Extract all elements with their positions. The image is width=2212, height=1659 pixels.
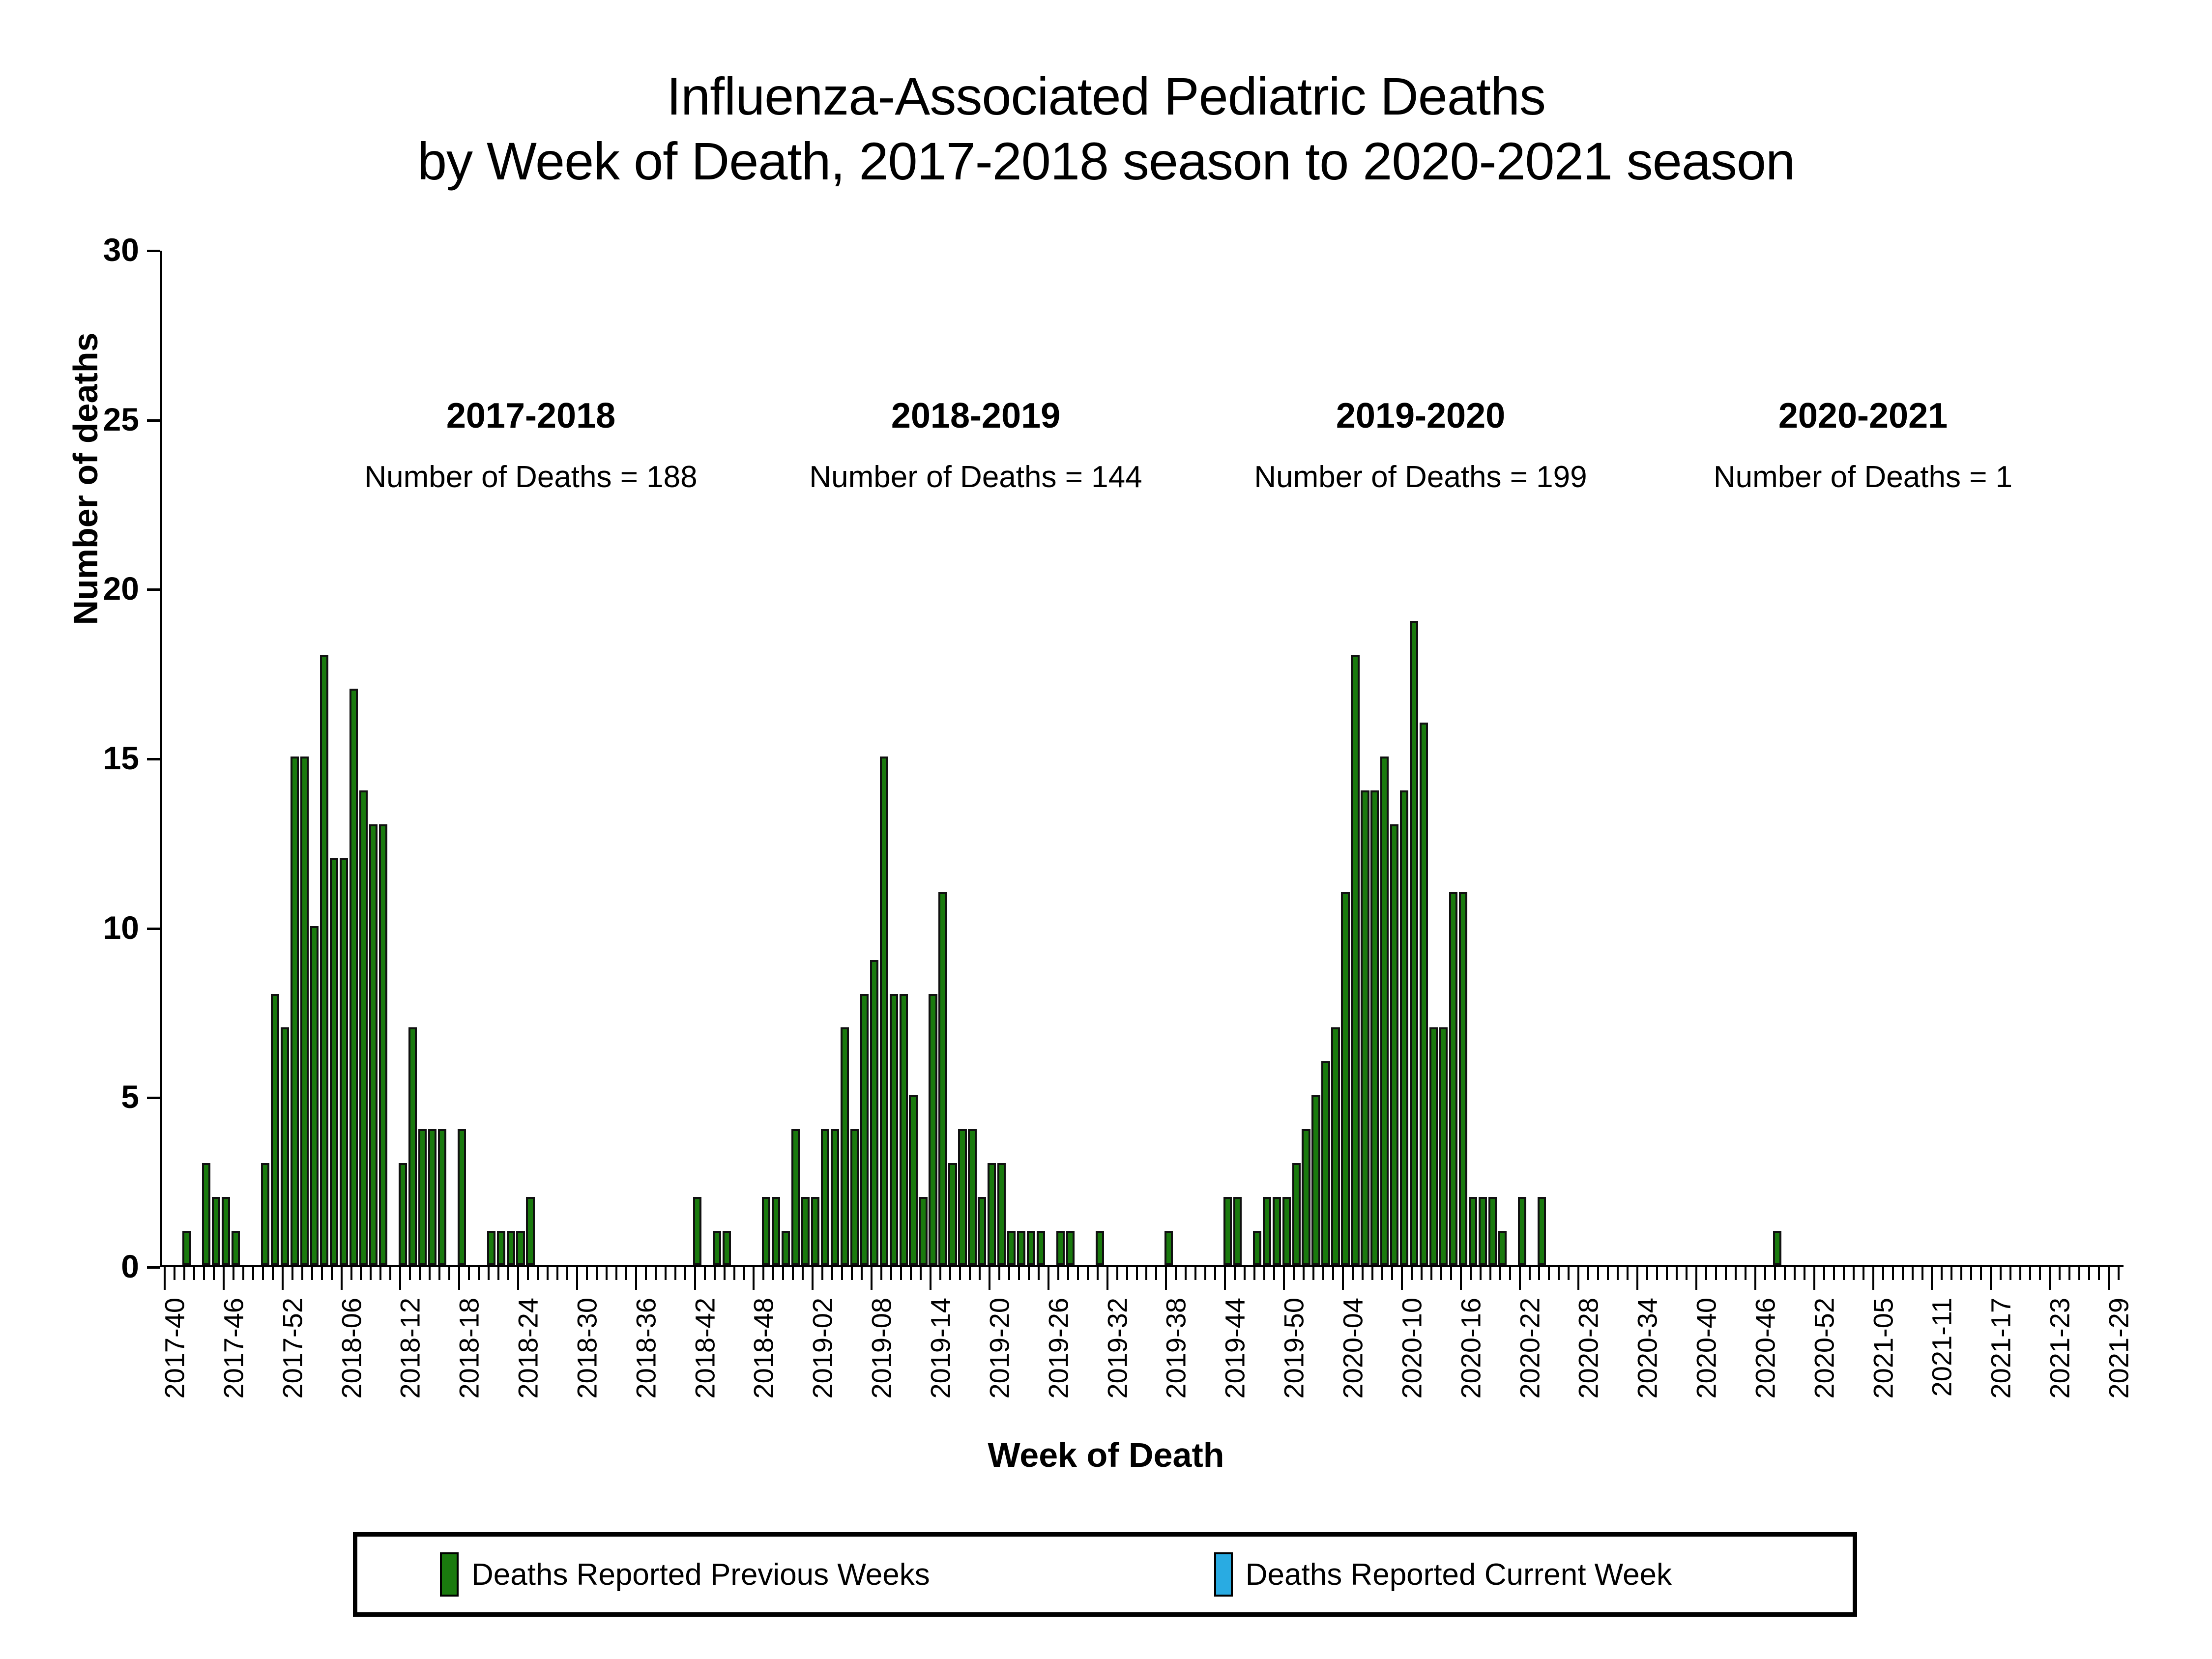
x-axis-tick-minor: [831, 1267, 833, 1280]
x-axis-tick-minor: [1960, 1267, 1962, 1280]
x-axis-tick-minor: [174, 1267, 175, 1280]
x-axis-tick-major: [1990, 1267, 1992, 1290]
bar: [418, 1129, 427, 1265]
x-axis-tick-minor: [1499, 1267, 1501, 1280]
x-axis-tick-label: 2018-24: [512, 1298, 544, 1399]
x-axis-tick-major: [1754, 1267, 1756, 1290]
x-axis-tick-minor: [2118, 1267, 2120, 1280]
x-axis-tick-minor: [1352, 1267, 1354, 1280]
x-axis-tick-minor: [2029, 1267, 2031, 1280]
bar: [1361, 790, 1369, 1265]
bar: [723, 1231, 731, 1265]
x-axis-tick-minor: [920, 1267, 922, 1280]
bar: [1439, 1027, 1448, 1265]
bar: [782, 1231, 790, 1265]
x-axis-tick-major: [635, 1267, 637, 1290]
bar: [948, 1163, 957, 1265]
x-axis-tick-minor: [478, 1267, 480, 1280]
season-name: 2018-2019: [730, 398, 1222, 434]
x-axis-tick-minor: [1794, 1267, 1796, 1280]
bar: [1007, 1231, 1016, 1265]
legend-label-previous-weeks: Deaths Reported Previous Weeks: [471, 1557, 930, 1592]
bar: [958, 1129, 966, 1265]
x-axis-tick-label: 2019-02: [807, 1298, 839, 1399]
x-axis-tick-minor: [1145, 1267, 1147, 1280]
bar: [1017, 1231, 1025, 1265]
x-axis-tick-major: [871, 1267, 873, 1290]
x-axis-tick-minor: [1705, 1267, 1707, 1280]
legend-label-current-week: Deaths Reported Current Week: [1246, 1557, 1672, 1592]
bar: [428, 1129, 437, 1265]
x-axis-tick-label: 2019-32: [1101, 1298, 1133, 1399]
x-axis-tick-minor: [1587, 1267, 1589, 1280]
bar: [1420, 723, 1428, 1265]
y-axis-tick-label: 30: [31, 231, 139, 268]
bar: [1273, 1197, 1281, 1265]
x-axis-tick-minor: [379, 1267, 381, 1280]
x-axis-tick-minor: [880, 1267, 882, 1280]
x-axis-tick-label: 2021-05: [1867, 1298, 1899, 1399]
x-axis-tick-minor: [1676, 1267, 1678, 1280]
y-axis-tick: [147, 419, 160, 422]
x-axis-tick-minor: [2059, 1267, 2061, 1280]
x-axis-tick-minor: [1244, 1267, 1246, 1280]
x-axis-tick-minor: [1421, 1267, 1423, 1280]
x-axis-tick-minor: [1204, 1267, 1206, 1280]
x-axis-tick-minor: [1470, 1267, 1472, 1280]
x-axis-tick-major: [694, 1267, 696, 1290]
y-axis-tick: [147, 1266, 160, 1269]
bar: [1096, 1231, 1104, 1265]
x-axis-tick-minor: [1833, 1267, 1835, 1280]
x-axis-tick-minor: [370, 1267, 372, 1280]
x-axis-tick-minor: [1008, 1267, 1010, 1280]
x-axis-tick-minor: [272, 1267, 274, 1280]
bar: [212, 1197, 220, 1265]
y-axis-tick-label: 0: [31, 1248, 139, 1285]
bar: [1341, 892, 1349, 1265]
x-axis-tick-minor: [1303, 1267, 1305, 1280]
bar: [791, 1129, 800, 1265]
x-axis-tick-minor: [979, 1267, 981, 1280]
page-title: Influenza-Associated Pediatric Deaths by…: [0, 64, 2212, 194]
x-axis-tick-minor: [998, 1267, 1000, 1280]
x-axis-tick-minor: [331, 1267, 333, 1280]
x-axis-tick-minor: [1077, 1267, 1079, 1280]
bar: [1263, 1197, 1271, 1265]
x-axis-tick-minor: [1371, 1267, 1373, 1280]
x-axis-tick-minor: [291, 1267, 293, 1280]
x-axis-tick-major: [812, 1267, 814, 1290]
x-axis-tick-label: 2019-38: [1160, 1298, 1192, 1399]
x-axis-tick-minor: [1617, 1267, 1619, 1280]
bar: [261, 1163, 269, 1265]
x-axis-tick-label: 2020-28: [1572, 1298, 1604, 1399]
x-axis-tick-minor: [645, 1267, 647, 1280]
x-axis-tick-label: 2020-22: [1513, 1298, 1545, 1399]
bar: [900, 994, 908, 1265]
bar: [1351, 655, 1359, 1265]
x-axis-tick-minor: [1745, 1267, 1746, 1280]
x-axis-tick-minor: [772, 1267, 774, 1280]
bar: [1469, 1197, 1477, 1265]
bar: [1331, 1027, 1339, 1265]
bar: [202, 1163, 210, 1265]
x-axis-tick-minor: [1116, 1267, 1118, 1280]
x-axis-tick-label: 2019-44: [1219, 1298, 1251, 1399]
x-axis-tick-minor: [733, 1267, 735, 1280]
bar: [330, 858, 338, 1265]
x-axis-tick-label: 2017-46: [217, 1298, 249, 1399]
x-axis-tick-minor: [1381, 1267, 1383, 1280]
y-axis-title: Number of deaths: [66, 292, 105, 666]
x-axis-tick-minor: [1509, 1267, 1511, 1280]
x-axis-tick-label: 2019-08: [866, 1298, 898, 1399]
x-axis-tick-minor: [949, 1267, 951, 1280]
x-axis-tick-minor: [1921, 1267, 1923, 1280]
x-axis-tick-major: [1224, 1267, 1226, 1290]
x-axis-tick-major: [341, 1267, 343, 1290]
x-axis-tick-label: 2018-42: [689, 1298, 721, 1399]
x-axis-tick-minor: [655, 1267, 657, 1280]
bar: [281, 1027, 289, 1265]
x-axis-tick-label: 2017-52: [276, 1298, 308, 1399]
x-axis-tick-minor: [782, 1267, 784, 1280]
x-axis-title: Week of Death: [0, 1435, 2212, 1475]
bar: [1380, 757, 1389, 1265]
season-death-count: Number of Deaths = 144: [730, 462, 1222, 493]
x-axis-tick-label: 2021-17: [1985, 1298, 2017, 1399]
x-axis-tick-minor: [488, 1267, 490, 1280]
x-axis-tick-minor: [1097, 1267, 1099, 1280]
x-axis-tick-minor: [1970, 1267, 1972, 1280]
x-axis-tick-minor: [596, 1267, 598, 1280]
x-axis-tick-minor: [1529, 1267, 1531, 1280]
x-axis-tick-minor: [1126, 1267, 1128, 1280]
x-axis-tick-minor: [1568, 1267, 1570, 1280]
bar: [1037, 1231, 1045, 1265]
x-axis-tick-minor: [1450, 1267, 1452, 1280]
x-axis-tick-minor: [213, 1267, 215, 1280]
bar: [1773, 1231, 1781, 1265]
bar: [232, 1231, 240, 1265]
bar: [978, 1197, 986, 1265]
x-axis-tick-label: 2021-23: [2044, 1298, 2076, 1399]
bar: [310, 926, 319, 1265]
bar: [369, 824, 378, 1265]
x-axis-tick-minor: [1666, 1267, 1668, 1280]
x-axis-tick-minor: [1548, 1267, 1550, 1280]
y-axis-tick-label: 5: [31, 1078, 139, 1115]
x-axis-tick-minor: [1646, 1267, 1648, 1280]
bar: [850, 1129, 859, 1265]
x-axis-tick-minor: [939, 1267, 941, 1280]
bar: [831, 1129, 839, 1265]
legend-item-current-week[interactable]: Deaths Reported Current Week: [1214, 1552, 1672, 1597]
x-axis-tick-major: [1695, 1267, 1697, 1290]
x-axis-tick-minor: [714, 1267, 716, 1280]
x-axis-tick-label: 2019-14: [925, 1298, 957, 1399]
x-axis-tick-major: [1519, 1267, 1521, 1290]
legend-swatch-previous-weeks: [440, 1552, 459, 1597]
x-axis-tick-label: 2019-26: [1042, 1298, 1074, 1399]
x-axis-tick-minor: [674, 1267, 676, 1280]
x-axis-tick-minor: [1322, 1267, 1324, 1280]
x-axis-tick-minor: [1136, 1267, 1138, 1280]
chart-legend: Deaths Reported Previous Weeks Deaths Re…: [353, 1532, 1857, 1617]
x-axis-tick-minor: [1175, 1267, 1177, 1280]
x-axis-tick-minor: [1214, 1267, 1216, 1280]
x-axis-tick-minor: [1038, 1267, 1040, 1280]
x-axis-tick-minor: [2078, 1267, 2080, 1280]
bar: [1459, 892, 1467, 1265]
x-axis-tick-minor: [1597, 1267, 1599, 1280]
x-axis-tick-minor: [1263, 1267, 1265, 1280]
x-axis-tick-minor: [762, 1267, 764, 1280]
x-axis-tick-major: [399, 1267, 401, 1290]
x-axis-tick-minor: [507, 1267, 509, 1280]
x-axis-tick-minor: [1774, 1267, 1776, 1280]
bar: [1292, 1163, 1301, 1265]
x-axis-tick-minor: [1489, 1267, 1491, 1280]
x-axis-tick-minor: [2000, 1267, 2002, 1280]
season-name: 2020-2021: [1617, 398, 2109, 434]
x-axis-tick-minor: [1332, 1267, 1334, 1280]
x-axis-tick-minor: [203, 1267, 205, 1280]
x-axis-tick-major: [1342, 1267, 1344, 1290]
bar: [1400, 790, 1408, 1265]
x-axis-tick-minor: [1843, 1267, 1845, 1280]
x-axis-tick-minor: [792, 1267, 794, 1280]
legend-swatch-current-week: [1214, 1552, 1233, 1597]
x-axis-tick-minor: [438, 1267, 440, 1280]
bar: [1410, 621, 1418, 1265]
x-axis-tick-major: [2049, 1267, 2051, 1290]
x-axis-tick-major: [2108, 1267, 2110, 1290]
x-axis-tick-minor: [233, 1267, 234, 1280]
x-axis-tick-minor: [1185, 1267, 1187, 1280]
bar: [379, 824, 387, 1265]
bar: [1066, 1231, 1075, 1265]
bar: [1027, 1231, 1035, 1265]
x-axis-tick-minor: [615, 1267, 617, 1280]
x-axis-tick-major: [1636, 1267, 1638, 1290]
x-axis-tick-label: 2020-04: [1337, 1298, 1368, 1399]
title-line-2: by Week of Death, 2017-2018 season to 20…: [0, 129, 2212, 194]
x-axis-tick-label: 2018-36: [630, 1298, 662, 1399]
bar: [909, 1095, 917, 1265]
bar: [772, 1197, 780, 1265]
x-axis-tick-label: 2021-29: [2103, 1298, 2135, 1399]
x-axis-tick-minor: [350, 1267, 352, 1280]
season-death-count: Number of Deaths = 199: [1175, 462, 1666, 493]
x-axis-tick-minor: [242, 1267, 244, 1280]
x-axis-tick-label: 2018-48: [748, 1298, 780, 1399]
x-axis-tick-minor: [321, 1267, 323, 1280]
x-axis-tick-minor: [1194, 1267, 1196, 1280]
bar: [271, 994, 279, 1265]
x-axis-tick-major: [282, 1267, 284, 1290]
x-axis-tick-major: [1106, 1267, 1108, 1290]
bar: [320, 655, 328, 1265]
bar: [1498, 1231, 1507, 1265]
x-axis-tick-minor: [821, 1267, 823, 1280]
x-axis-tick-major: [989, 1267, 990, 1290]
x-axis-tick-minor: [1057, 1267, 1059, 1280]
x-axis-tick-minor: [1950, 1267, 1952, 1280]
season-death-count: Number of Deaths = 188: [285, 462, 777, 493]
x-axis-tick-minor: [1293, 1267, 1295, 1280]
x-axis-tick-minor: [684, 1267, 686, 1280]
x-axis-tick-minor: [1784, 1267, 1786, 1280]
x-axis-tick-minor: [448, 1267, 450, 1280]
x-axis-tick-label: 2018-18: [453, 1298, 485, 1399]
bar: [1164, 1231, 1173, 1265]
x-axis-tick-minor: [724, 1267, 726, 1280]
bar: [438, 1129, 446, 1265]
x-axis-tick-minor: [429, 1267, 431, 1280]
x-axis-tick-minor: [1362, 1267, 1364, 1280]
x-axis-tick-minor: [1941, 1267, 1943, 1280]
x-axis-tick-minor: [360, 1267, 362, 1280]
x-axis-tick-minor: [1735, 1267, 1737, 1280]
bar: [1253, 1231, 1261, 1265]
x-axis-tick-minor: [1430, 1267, 1432, 1280]
bar: [1370, 790, 1379, 1265]
x-axis-tick-minor: [2039, 1267, 2041, 1280]
season-name: 2017-2018: [285, 398, 777, 434]
bar: [359, 790, 368, 1265]
x-axis-tick-major: [1165, 1267, 1167, 1290]
bar: [399, 1163, 407, 1265]
x-axis-tick-minor: [389, 1267, 391, 1280]
bar: [1538, 1197, 1546, 1265]
x-axis-tick-major: [1401, 1267, 1403, 1290]
x-axis-tick-minor: [183, 1267, 185, 1280]
x-axis-tick-minor: [1391, 1267, 1393, 1280]
x-axis-tick-minor: [537, 1267, 539, 1280]
x-axis-tick-minor: [547, 1267, 549, 1280]
bar: [880, 757, 888, 1265]
bar: [291, 757, 299, 1265]
season-annotation: 2019-2020Number of Deaths = 199: [1175, 398, 1666, 493]
bar: [693, 1197, 701, 1265]
x-axis-tick-label: 2020-10: [1396, 1298, 1427, 1399]
x-axis-tick-label: 2019-50: [1278, 1298, 1310, 1399]
x-axis-tick-minor: [1273, 1267, 1275, 1280]
x-axis-tick-minor: [2088, 1267, 2090, 1280]
bar: [349, 689, 358, 1265]
x-axis-tick-minor: [890, 1267, 892, 1280]
x-axis-tick-minor: [1067, 1267, 1069, 1280]
bar: [997, 1163, 1006, 1265]
x-axis-tick-minor: [193, 1267, 195, 1280]
bar: [713, 1231, 721, 1265]
bar: [487, 1231, 495, 1265]
bar: [1479, 1197, 1487, 1265]
y-axis-tick: [147, 588, 160, 591]
x-axis-tick-minor: [1892, 1267, 1894, 1280]
x-axis-tick-minor: [252, 1267, 254, 1280]
x-axis-tick-minor: [1028, 1267, 1030, 1280]
season-annotation: 2017-2018Number of Deaths = 188: [285, 398, 777, 493]
x-axis-tick-label: 2020-16: [1455, 1298, 1486, 1399]
x-axis-tick-minor: [2098, 1267, 2100, 1280]
x-axis-tick-minor: [704, 1267, 706, 1280]
x-axis-tick-minor: [497, 1267, 499, 1280]
x-axis-tick-minor: [1980, 1267, 1982, 1280]
season-annotation: 2020-2021Number of Deaths = 1: [1617, 398, 2109, 493]
x-axis-tick-minor: [1804, 1267, 1805, 1280]
x-axis-tick-major: [576, 1267, 578, 1290]
bar: [458, 1129, 466, 1265]
bar: [1311, 1095, 1320, 1265]
x-axis-tick-minor: [1823, 1267, 1825, 1280]
x-axis-tick-major: [1577, 1267, 1579, 1290]
x-axis-tick-minor: [969, 1267, 971, 1280]
x-axis-tick-minor: [1087, 1267, 1089, 1280]
y-axis-tick-label: 25: [31, 401, 139, 438]
bar: [1056, 1231, 1065, 1265]
x-axis-tick-minor: [625, 1267, 627, 1280]
x-axis-tick-minor: [301, 1267, 303, 1280]
x-axis-tick-minor: [1882, 1267, 1884, 1280]
x-axis-tick-major: [1813, 1267, 1815, 1290]
bar: [919, 1197, 927, 1265]
x-axis-tick-minor: [468, 1267, 470, 1280]
x-axis-tick-minor: [851, 1267, 853, 1280]
x-axis-tick-major: [1872, 1267, 1874, 1290]
x-axis-tick-minor: [606, 1267, 608, 1280]
x-axis-tick-minor: [409, 1267, 411, 1280]
x-axis-tick-minor: [1863, 1267, 1864, 1280]
bar: [762, 1197, 770, 1265]
x-axis-tick-minor: [1686, 1267, 1688, 1280]
x-axis-tick-minor: [1607, 1267, 1609, 1280]
bar: [860, 994, 869, 1265]
bar: [1390, 824, 1398, 1265]
legend-item-previous-weeks[interactable]: Deaths Reported Previous Weeks: [440, 1552, 930, 1597]
bar: [801, 1197, 810, 1265]
y-axis-tick: [147, 1097, 160, 1099]
bar: [841, 1027, 849, 1265]
bar: [507, 1231, 515, 1265]
x-axis-tick-minor: [910, 1267, 912, 1280]
bar: [182, 1231, 191, 1265]
bar: [1429, 1027, 1438, 1265]
x-axis-tick-major: [753, 1267, 755, 1290]
bar: [516, 1231, 524, 1265]
season-death-count: Number of Deaths = 1: [1617, 462, 2109, 493]
x-axis-tick-minor: [1538, 1267, 1540, 1280]
x-axis-tick-minor: [566, 1267, 568, 1280]
bar: [821, 1129, 829, 1265]
x-axis-tick-major: [458, 1267, 460, 1290]
x-axis-tick-major: [1283, 1267, 1285, 1290]
y-axis-tick: [147, 250, 160, 252]
bar: [929, 994, 937, 1265]
season-name: 2019-2020: [1175, 398, 1666, 434]
x-axis-tick-minor: [586, 1267, 588, 1280]
x-axis-tick-minor: [2019, 1267, 2021, 1280]
x-axis-tick-minor: [1627, 1267, 1629, 1280]
x-axis-tick-minor: [311, 1267, 313, 1280]
x-axis-tick-minor: [419, 1267, 421, 1280]
x-axis-tick-label: 2020-52: [1808, 1298, 1840, 1399]
bar: [300, 757, 309, 1265]
bar: [1449, 892, 1457, 1265]
x-axis-tick-minor: [743, 1267, 745, 1280]
